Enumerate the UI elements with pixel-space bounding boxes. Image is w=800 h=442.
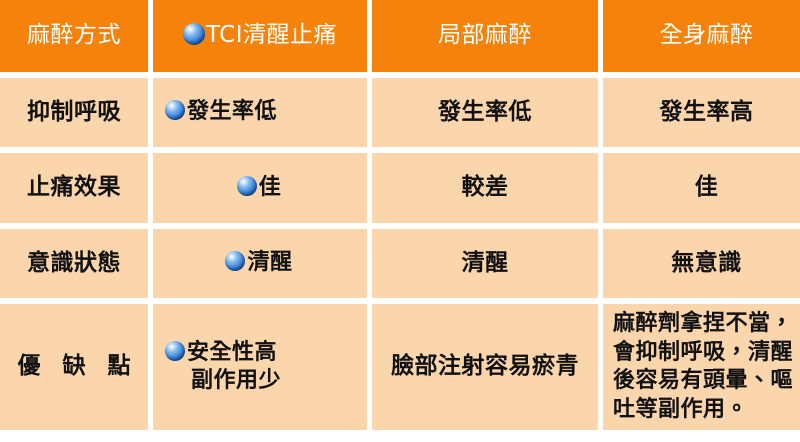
- column-header-general-label: 全身麻醉: [660, 22, 754, 48]
- cell-local-analgesic-effect: 較差: [372, 153, 598, 222]
- table-row: 止痛效果 佳 較差 佳: [0, 153, 800, 222]
- cell-text: 後容易有頭暈、嘔: [613, 368, 793, 393]
- table-body: 抑制呼吸 發生率低 發生率低 發生率高 止痛效果 佳 較差 佳 意識狀態 清醒 …: [0, 78, 800, 430]
- cell-text: 發生率低: [187, 99, 277, 124]
- row-label-respiratory-depression: 抑制呼吸: [0, 78, 148, 147]
- cell-text: 會抑制呼吸，清醒: [613, 340, 793, 365]
- column-header-tci: TCI清醒止痛: [153, 0, 367, 72]
- blue-sphere-icon: [165, 100, 185, 120]
- row-label-analgesic-effect: 止痛效果: [0, 153, 148, 222]
- cell-local-consciousness: 清醒: [372, 229, 598, 298]
- cell-general-pros-cons: 麻醉劑拿捏不當， 會抑制呼吸，清醒 後容易有頭暈、嘔 吐等副作用。: [603, 304, 800, 430]
- blue-sphere-icon: [165, 341, 185, 361]
- header-row: 麻醉方式 TCI清醒止痛 局部麻醉 全身麻醉: [0, 0, 800, 72]
- column-header-tci-label: TCI清醒止痛: [206, 22, 337, 48]
- blue-sphere-icon: [225, 251, 245, 271]
- cell-general-analgesic-effect: 佳: [603, 153, 800, 222]
- row-label-consciousness: 意識狀態: [0, 229, 148, 298]
- cell-text: 麻醉劑拿捏不當，: [613, 311, 793, 336]
- blue-sphere-icon: [183, 23, 205, 45]
- blue-sphere-icon: [237, 176, 257, 196]
- column-header-method-label: 麻醉方式: [27, 22, 121, 48]
- cell-text: 吐等副作用。: [613, 397, 748, 422]
- column-header-general: 全身麻醉: [603, 0, 800, 72]
- cell-tci-analgesic-effect: 佳: [153, 153, 367, 222]
- cell-text: 清醒: [247, 250, 292, 275]
- cell-tci-consciousness: 清醒: [153, 229, 367, 298]
- cell-local-pros-cons: 臉部注射容易瘀青: [372, 304, 598, 430]
- column-header-local: 局部麻醉: [372, 0, 598, 72]
- cell-local-respiratory-depression: 發生率低: [372, 78, 598, 147]
- table-row: 意識狀態 清醒 清醒 無意識: [0, 229, 800, 298]
- cell-general-respiratory-depression: 發生率高: [603, 78, 800, 147]
- cell-text: 副作用少: [165, 367, 359, 396]
- table-row: 優 缺 點 安全性高 副作用少 臉部注射容易瘀青 麻醉劑拿捏不當， 會抑制呼吸，…: [0, 304, 800, 430]
- column-header-method: 麻醉方式: [0, 0, 148, 72]
- cell-text: 佳: [259, 175, 282, 200]
- anesthesia-comparison-table: 麻醉方式 TCI清醒止痛 局部麻醉 全身麻醉 抑制呼吸 發生率低 發生率低 發生…: [0, 0, 800, 436]
- cell-tci-respiratory-depression: 發生率低: [153, 78, 367, 147]
- table-row: 抑制呼吸 發生率低 發生率低 發生率高: [0, 78, 800, 147]
- cell-general-consciousness: 無意識: [603, 229, 800, 298]
- table-header: 麻醉方式 TCI清醒止痛 局部麻醉 全身麻醉: [0, 0, 800, 72]
- row-label-pros-cons: 優 缺 點: [0, 304, 148, 430]
- cell-text: 安全性高: [187, 340, 277, 365]
- column-header-local-label: 局部麻醉: [438, 22, 532, 48]
- cell-tci-pros-cons: 安全性高 副作用少: [153, 304, 367, 430]
